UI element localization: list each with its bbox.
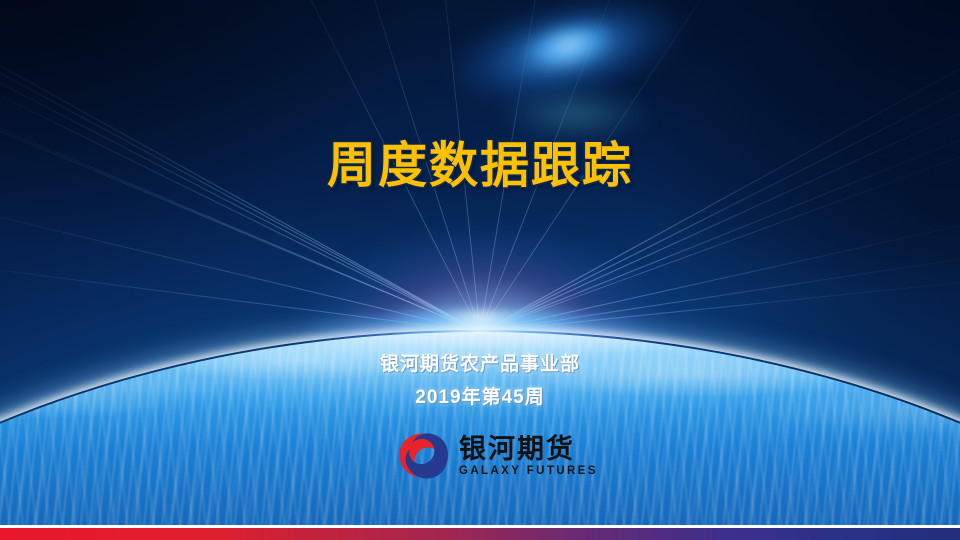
company-logo: 银河期货 GALAXY FUTURES: [398, 428, 584, 484]
bottom-gradient-bar: [0, 528, 960, 540]
logo-english-name: GALAXY FUTURES: [459, 464, 598, 478]
subtitle-department: 银河期货农产品事业部: [0, 353, 960, 376]
presentation-slide: 周度数据跟踪 银河期货农产品事业部 2019年第45周 银河期货 GALAXY …: [0, 0, 960, 540]
slide-subtitle: 银河期货农产品事业部 2019年第45周: [0, 353, 960, 409]
subtitle-week: 2019年第45周: [0, 386, 960, 409]
logo-wordmark: 银河期货 GALAXY FUTURES: [459, 435, 598, 478]
galaxy-taiji-icon: [398, 431, 450, 481]
logo-chinese-name: 银河期货: [459, 435, 598, 464]
slide-title: 周度数据跟踪: [0, 126, 960, 197]
